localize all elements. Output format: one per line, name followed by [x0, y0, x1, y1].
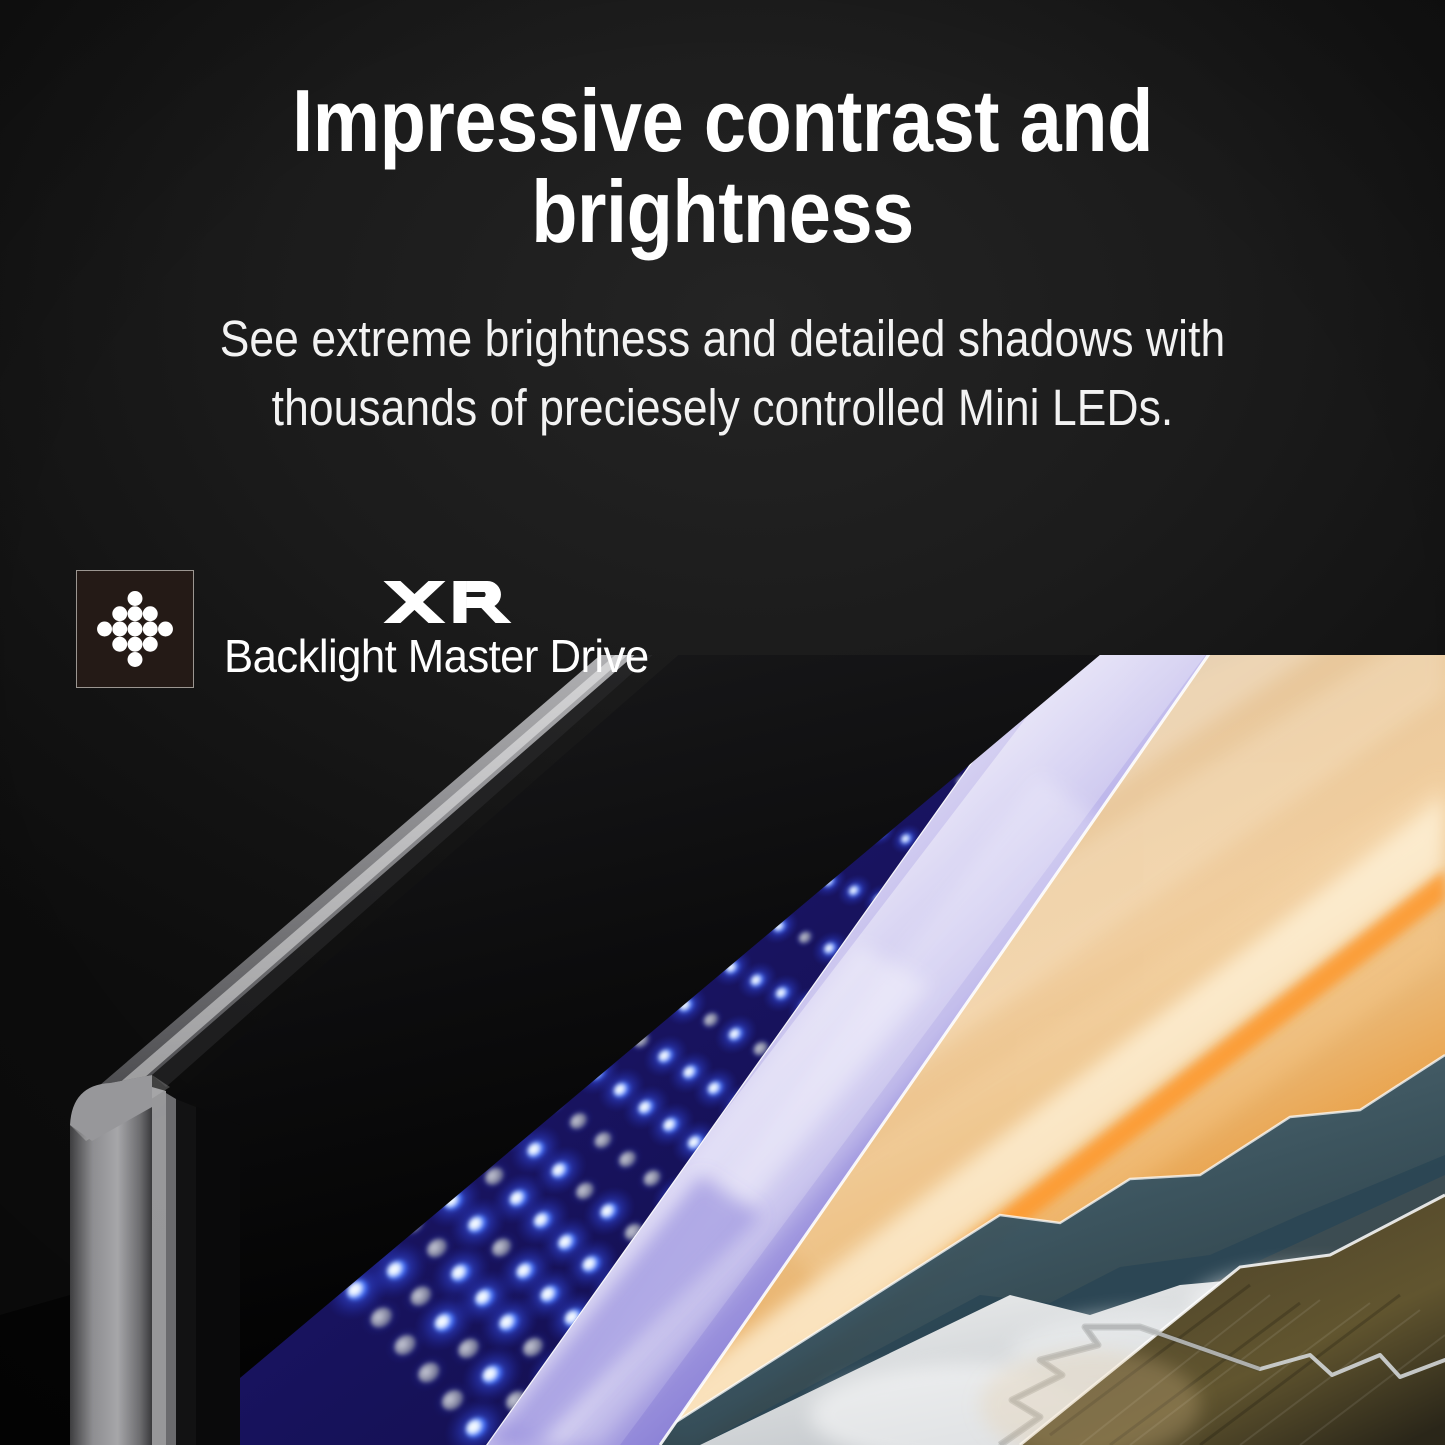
xr-badge-text: Backlight Master Drive: [224, 579, 671, 679]
mini-led-tv-cutaway-image: [0, 655, 1445, 1445]
xr-wordmark-icon: [224, 579, 671, 625]
copy-block: Impressive contrast and brightness See e…: [0, 0, 1445, 442]
page-subtitle: See extreme brightness and detailed shad…: [94, 257, 1351, 442]
xr-diamond-dots-icon: [77, 571, 193, 687]
page-title: Impressive contrast and brightness: [101, 0, 1344, 257]
xr-logo-badge: [76, 570, 194, 688]
promo-banner: Impressive contrast and brightness See e…: [0, 0, 1445, 1445]
xr-badge-lockup: Backlight Master Drive: [76, 570, 671, 688]
xr-badge-subtitle: Backlight Master Drive: [224, 633, 649, 679]
